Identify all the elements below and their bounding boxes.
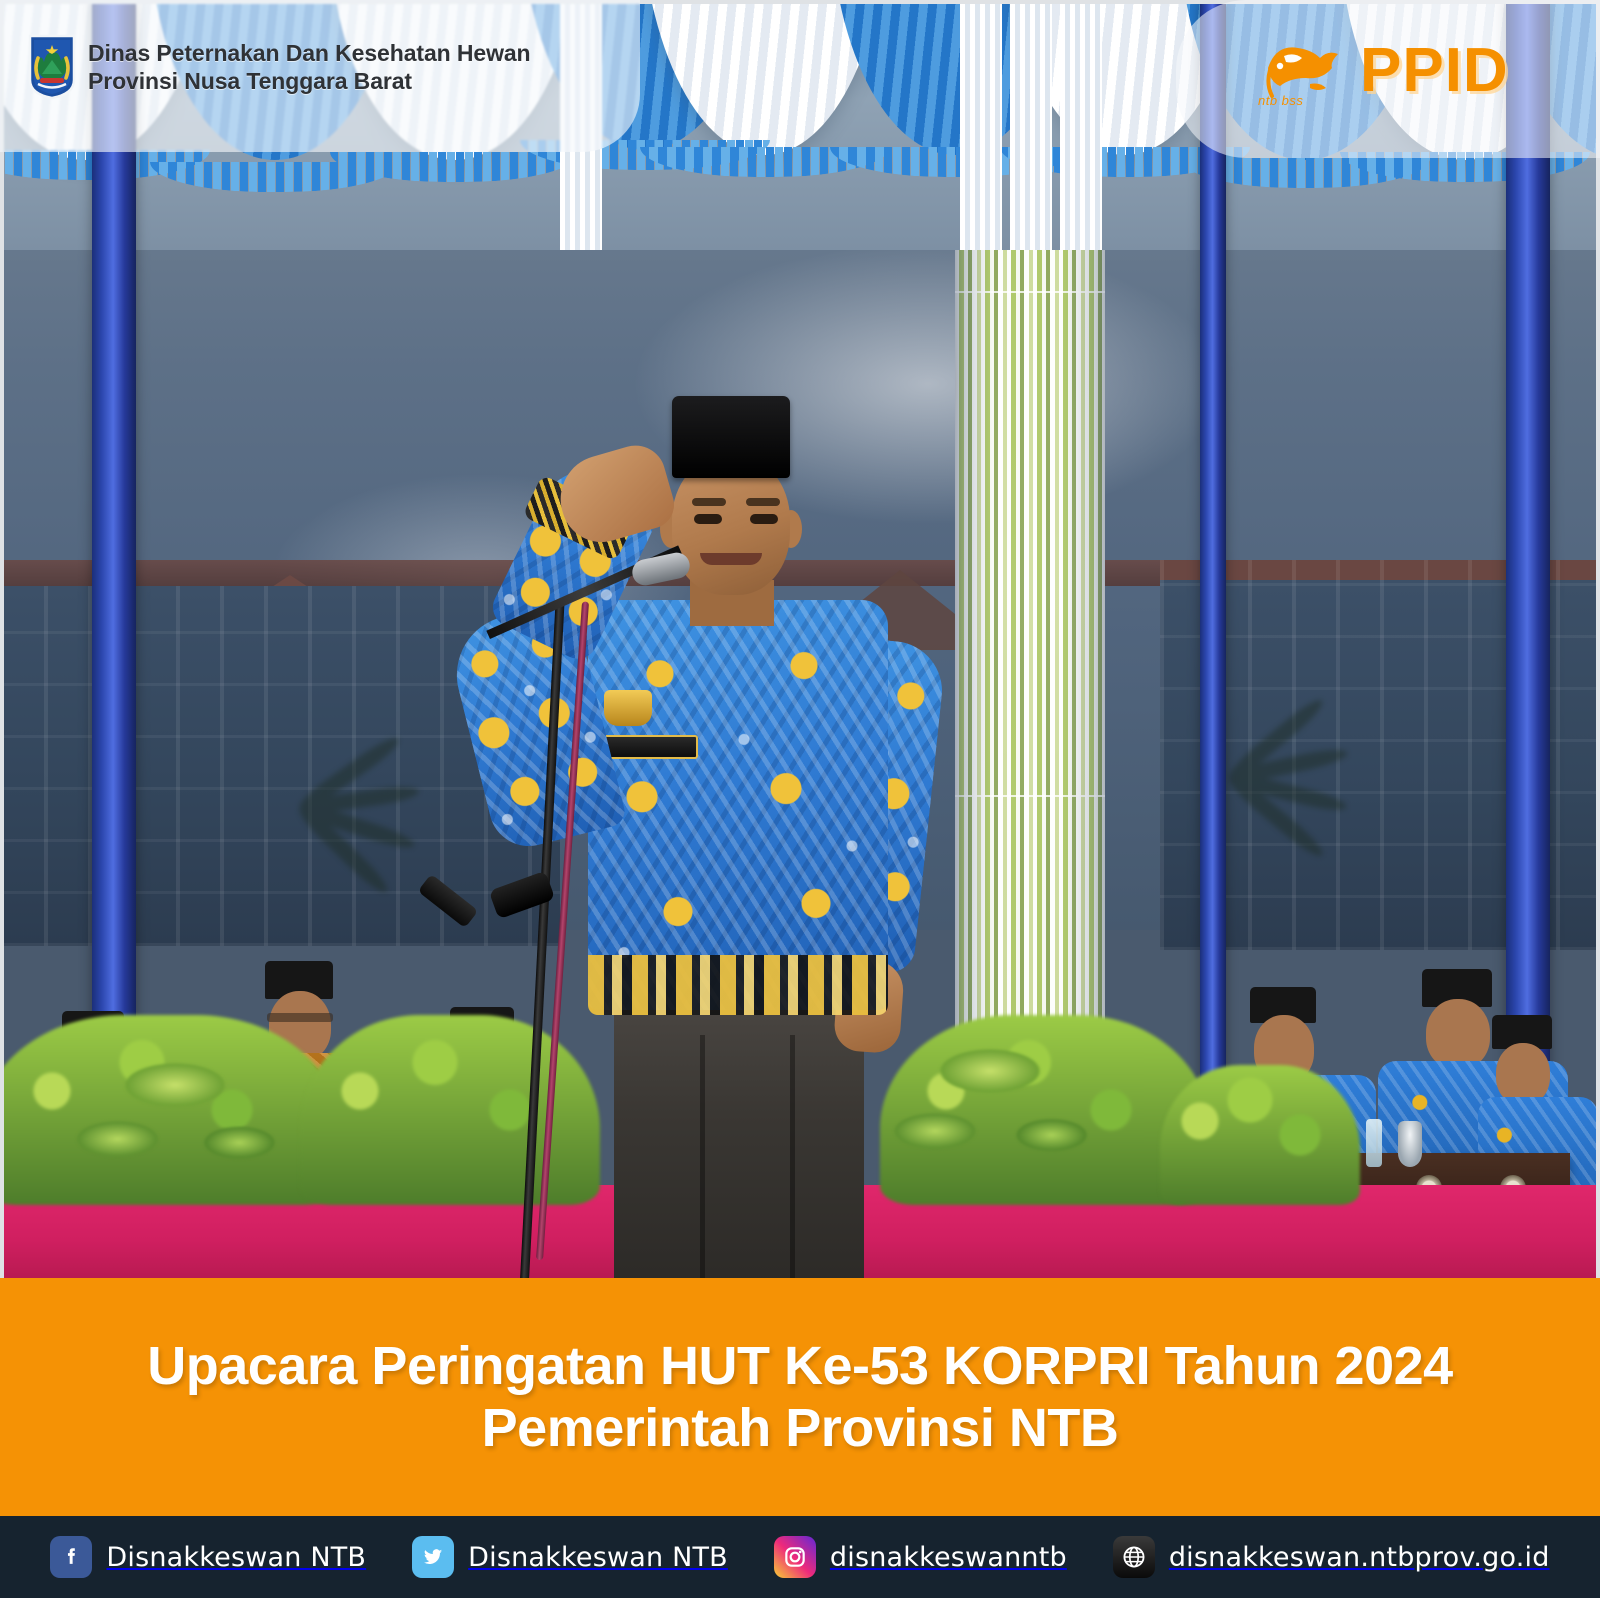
globe-icon xyxy=(1113,1536,1155,1578)
ntb-map-fish-icon: ntb bss xyxy=(1250,28,1350,114)
organization-brand: Dinas Peternakan Dan Kesehatan Hewan Pro… xyxy=(28,34,531,100)
facebook-icon xyxy=(50,1536,92,1578)
twitter-handle: Disnakkeswan NTB xyxy=(468,1542,728,1573)
social-link-website[interactable]: disnakkeswan.ntbprov.go.id xyxy=(1113,1536,1550,1578)
website-url: disnakkeswan.ntbprov.go.id xyxy=(1169,1542,1550,1573)
poster-root: Dinas Peternakan Dan Kesehatan Hewan Pro… xyxy=(0,0,1600,1598)
korpri-emblem xyxy=(604,690,652,726)
caption-banner: Upacara Peringatan HUT Ke-53 KORPRI Tahu… xyxy=(0,1278,1600,1516)
speaker-shirt-hem xyxy=(588,955,888,1015)
instagram-icon xyxy=(774,1536,816,1578)
instagram-handle: disnakkeswanntb xyxy=(830,1542,1067,1573)
ppid-wordmark: PPID xyxy=(1360,40,1509,102)
caption-text: Upacara Peringatan HUT Ke-53 KORPRI Tahu… xyxy=(107,1335,1492,1459)
social-link-facebook[interactable]: Disnakkeswan NTB xyxy=(50,1536,366,1578)
speaker-nametag xyxy=(600,735,698,759)
org-line-1: Dinas Peternakan Dan Kesehatan Hewan xyxy=(88,40,531,66)
organization-name: Dinas Peternakan Dan Kesehatan Hewan Pro… xyxy=(88,39,531,95)
social-footer: Disnakkeswan NTB Disnakkeswan NTB disnak… xyxy=(0,1516,1600,1598)
social-link-instagram[interactable]: disnakkeswanntb xyxy=(774,1536,1067,1578)
social-link-twitter[interactable]: Disnakkeswan NTB xyxy=(412,1536,728,1578)
speaker-figure xyxy=(0,0,1600,1285)
event-photo xyxy=(0,0,1600,1285)
speaker-songkok-cap xyxy=(672,396,790,478)
ppid-logo: ntb bss PPID xyxy=(1250,28,1509,114)
facebook-handle: Disnakkeswan NTB xyxy=(106,1542,366,1573)
twitter-icon xyxy=(412,1536,454,1578)
speaker-trousers xyxy=(614,1000,864,1285)
caption-line-1: Upacara Peringatan HUT Ke-53 KORPRI Tahu… xyxy=(147,1336,1452,1396)
speaker-mouth xyxy=(700,553,762,565)
org-line-2: Provinsi Nusa Tenggara Barat xyxy=(88,68,412,94)
speaker-korpri-shirt xyxy=(588,600,888,1010)
caption-line-2: Pemerintah Provinsi NTB xyxy=(482,1398,1119,1458)
ppid-subtext: ntb bss xyxy=(1258,93,1303,108)
ntb-provincial-emblem-icon xyxy=(28,34,76,100)
